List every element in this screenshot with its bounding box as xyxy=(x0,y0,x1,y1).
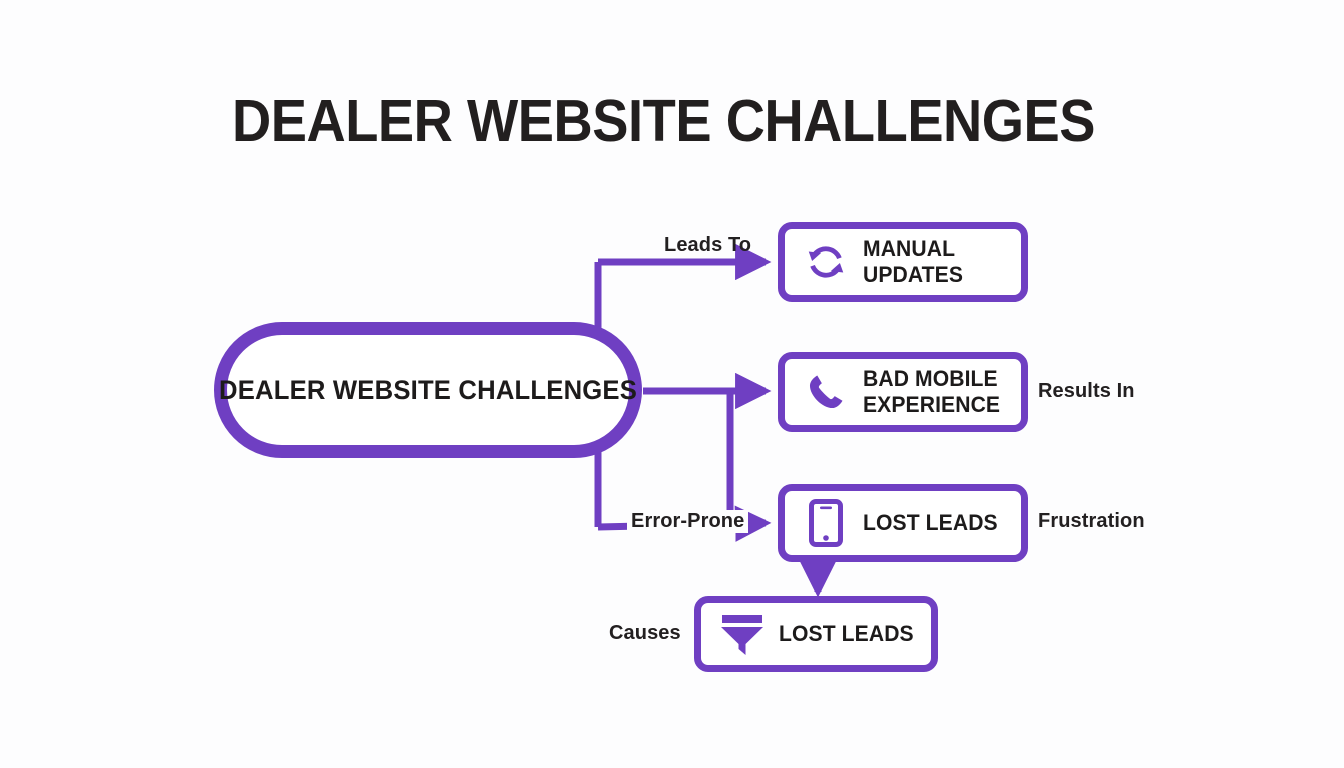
edge-label-causes: Causes xyxy=(609,622,681,645)
node-manual-updates[interactable]: MANUAL UPDATES xyxy=(778,222,1028,302)
node-bad-mobile-experience[interactable]: BAD MOBILE EXPERIENCE xyxy=(778,352,1028,432)
central-node-label: DEALER WEBSITE CHALLENGES xyxy=(219,375,637,406)
node-lost-leads[interactable]: LOST LEADS xyxy=(778,484,1028,562)
refresh-sync-icon xyxy=(801,237,851,287)
node-manual-updates-label: MANUAL UPDATES xyxy=(863,236,1015,288)
edge-label-leads-to: Leads To xyxy=(664,234,751,257)
central-node[interactable]: DEALER WEBSITE CHALLENGES xyxy=(214,322,642,458)
edge-label-error-prone: Error-Prone xyxy=(627,510,748,533)
page-title: DEALER WEBSITE CHALLENGES xyxy=(232,88,1023,154)
funnel-icon xyxy=(717,609,767,659)
diagram-canvas: DEALER WEBSITE CHALLENGES xyxy=(0,0,1344,768)
edge-label-results-in: Results In xyxy=(1038,380,1135,403)
node-lost-leads-label: LOST LEADS xyxy=(863,510,998,536)
node-lost-leads-funnel-label: LOST LEADS xyxy=(779,621,914,647)
smartphone-icon xyxy=(801,498,851,548)
edge-label-frustration: Frustration xyxy=(1038,510,1145,533)
node-lost-leads-funnel[interactable]: LOST LEADS xyxy=(694,596,938,672)
phone-handset-icon xyxy=(801,367,851,417)
node-bad-mobile-experience-label: BAD MOBILE EXPERIENCE xyxy=(863,366,1000,418)
